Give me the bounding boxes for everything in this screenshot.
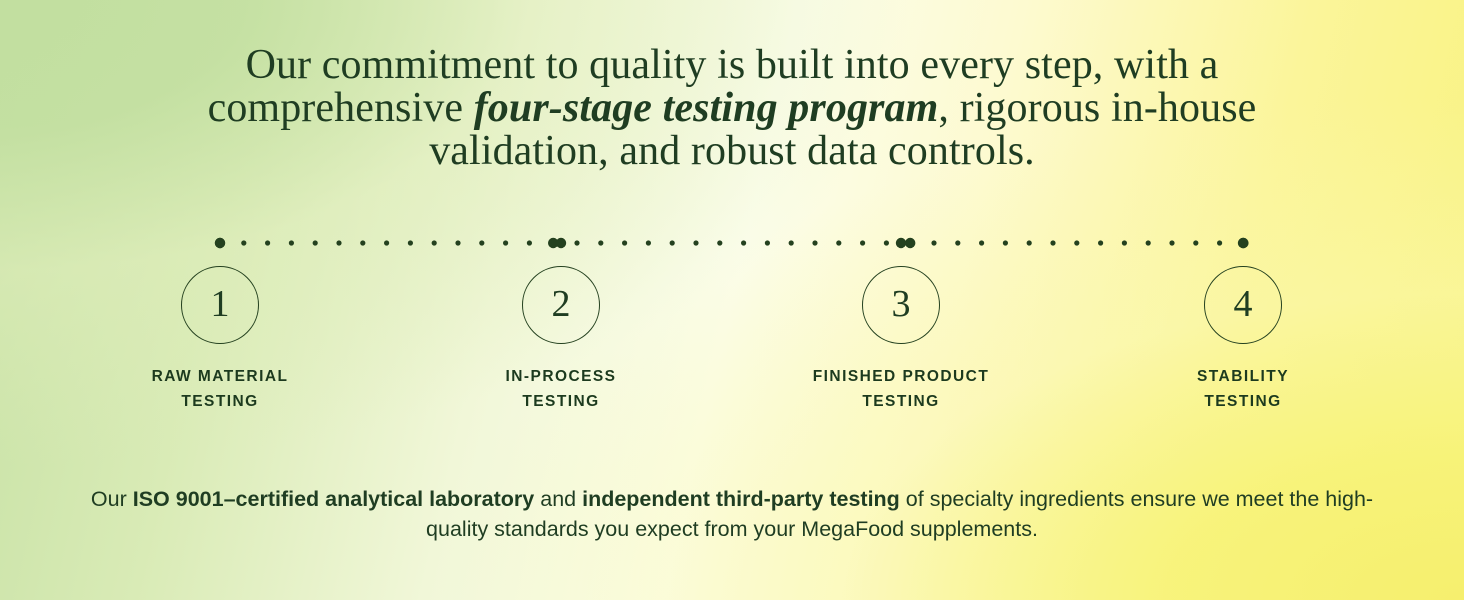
timeline-dot	[1050, 240, 1055, 245]
timeline-dot	[241, 240, 246, 245]
timeline-dot	[1003, 240, 1008, 245]
step-2-number: 2	[552, 285, 571, 323]
footnote-part-1: Our	[91, 487, 133, 511]
timeline-dot	[717, 240, 722, 245]
step-2-circle: 2	[522, 266, 600, 344]
step-4-label: STABILITY TESTING	[1113, 364, 1373, 414]
timeline-dot	[670, 240, 675, 245]
timeline-dot	[789, 240, 794, 245]
timeline-dot	[455, 240, 460, 245]
timeline-step-dot	[905, 238, 915, 248]
footnote-part-2: and	[534, 487, 582, 511]
timeline-step-dot	[1238, 238, 1248, 248]
step-3[interactable]: 3 FINISHED PRODUCT TESTING	[771, 266, 1031, 414]
timeline-step-dot-1	[215, 238, 225, 248]
timeline-dot	[289, 240, 294, 245]
step-1-circle: 1	[181, 266, 259, 344]
timeline-dot	[265, 240, 270, 245]
page-title: Our commitment to quality is built into …	[172, 44, 1292, 173]
timeline-dot	[955, 240, 960, 245]
testing-steps: 1 RAW MATERIAL TESTING 2 IN-PROCESS TEST…	[0, 266, 1464, 426]
step-4-number: 4	[1234, 285, 1253, 323]
timeline-dot	[693, 240, 698, 245]
timeline-step-dot	[215, 238, 225, 248]
timeline-dot	[931, 240, 936, 245]
timeline-dot	[1122, 240, 1127, 245]
timeline-dot	[1098, 240, 1103, 245]
timeline-dot	[479, 240, 484, 245]
timeline-dotted-line	[214, 237, 1250, 249]
timeline-dot	[1217, 240, 1222, 245]
step-4-circle: 4	[1204, 266, 1282, 344]
timeline-step-dot-3	[896, 238, 906, 248]
footnote-bold-lab: ISO 9001–certified analytical laboratory	[133, 487, 535, 511]
timeline-dot	[574, 240, 579, 245]
step-3-label: FINISHED PRODUCT TESTING	[771, 364, 1031, 414]
step-2[interactable]: 2 IN-PROCESS TESTING	[431, 266, 691, 414]
timeline-dot	[1074, 240, 1079, 245]
timeline-dot	[360, 240, 365, 245]
step-1-number: 1	[211, 285, 230, 323]
timeline-step-dot	[548, 238, 558, 248]
timeline-dot	[884, 240, 889, 245]
timeline-dot	[622, 240, 627, 245]
timeline-dot	[384, 240, 389, 245]
step-1-label: RAW MATERIAL TESTING	[90, 364, 350, 414]
timeline-dot	[1027, 240, 1032, 245]
timeline-dot	[741, 240, 746, 245]
step-2-label: IN-PROCESS TESTING	[431, 364, 691, 414]
timeline-dot	[860, 240, 865, 245]
timeline-dot	[765, 240, 770, 245]
timeline-step-dot-4	[1238, 238, 1248, 248]
timeline-dot	[1169, 240, 1174, 245]
timeline-dot	[598, 240, 603, 245]
quality-testing-banner: Our commitment to quality is built into …	[0, 0, 1464, 600]
timeline-dot	[1146, 240, 1151, 245]
step-4[interactable]: 4 STABILITY TESTING	[1113, 266, 1373, 414]
timeline-dot	[527, 240, 532, 245]
step-3-number: 3	[892, 285, 911, 323]
footnote-text: Our ISO 9001–certified analytical labora…	[72, 484, 1392, 544]
timeline-dot	[812, 240, 817, 245]
timeline-step-dot-2	[556, 238, 566, 248]
timeline-dot	[1193, 240, 1198, 245]
timeline-dot	[979, 240, 984, 245]
timeline-dot	[836, 240, 841, 245]
timeline-dot	[503, 240, 508, 245]
footnote-bold-testing: independent third-party testing	[582, 487, 900, 511]
timeline-dot	[336, 240, 341, 245]
timeline-dot	[408, 240, 413, 245]
timeline-dot	[313, 240, 318, 245]
timeline-dot	[646, 240, 651, 245]
headline-emphasis: four-stage testing program	[474, 85, 939, 131]
step-3-circle: 3	[862, 266, 940, 344]
step-1[interactable]: 1 RAW MATERIAL TESTING	[90, 266, 350, 414]
timeline-dot	[432, 240, 437, 245]
